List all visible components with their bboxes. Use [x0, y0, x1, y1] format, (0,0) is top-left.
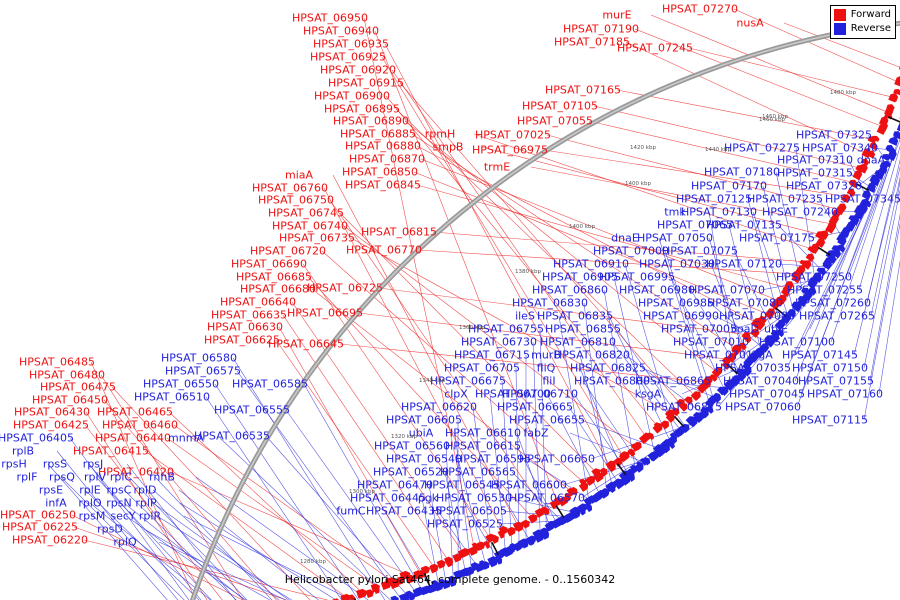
gene-label[interactable]: HPSAT_07175	[739, 233, 815, 244]
gene-label[interactable]: HPSAT_07075	[662, 246, 738, 257]
gene-label[interactable]: HPSAT_06485	[19, 357, 95, 368]
gene-label[interactable]: rplR	[139, 511, 161, 522]
gene-label[interactable]: HPSAT_07070	[689, 285, 765, 296]
axis-tick-label: 1480 kbp	[830, 90, 856, 96]
legend-label-reverse: Reverse	[851, 24, 891, 34]
gene-label[interactable]: HPSAT_07150	[792, 363, 868, 374]
gene-label[interactable]: nusA	[736, 18, 763, 29]
gene-label[interactable]: HPSAT_06440	[95, 433, 171, 444]
gene-label[interactable]: HPSAT_07040	[723, 376, 799, 387]
gene-label[interactable]: HPSAT_06825	[570, 363, 646, 374]
gene-label[interactable]: ubiE	[764, 324, 788, 335]
axis-tick-label: 1460 kbp	[759, 117, 785, 123]
gene-label[interactable]: HPSAT_06665	[497, 402, 573, 413]
gene-label[interactable]: HPSAT_07105	[522, 101, 598, 112]
gene-label[interactable]: dnaE	[611, 233, 639, 244]
gene-label[interactable]: HPSAT_06615	[445, 441, 521, 452]
gene-label[interactable]: HPSAT_06710	[502, 389, 578, 400]
gene-label[interactable]: rpsQ	[49, 472, 75, 483]
gene-label[interactable]: rplB	[12, 446, 34, 457]
gene-label[interactable]: HPSAT_07250	[776, 272, 852, 283]
gene-label[interactable]: HPSAT_06430	[14, 407, 90, 418]
gene-label[interactable]: HPSAT_06885	[340, 129, 416, 140]
gene-label[interactable]: HPSAT_06545	[424, 480, 500, 491]
gene-label[interactable]: HPSAT_07340	[802, 143, 878, 154]
gene-label[interactable]: ksgA	[635, 389, 662, 400]
gene-label[interactable]: HPSAT_07345	[825, 194, 900, 205]
gene-label[interactable]: HPSAT_06640	[220, 297, 296, 308]
gene-label[interactable]: HPSAT_07155	[798, 376, 874, 387]
gene-label[interactable]: HPSAT_06920	[320, 65, 396, 76]
gene-label[interactable]: rplO	[78, 498, 101, 509]
gene-label[interactable]: HPSAT_07035	[715, 363, 791, 374]
gene-label[interactable]: HPSAT_06570	[509, 493, 585, 504]
gene-label[interactable]: HPSAT_07160	[807, 389, 883, 400]
gene-label[interactable]: dnaA	[857, 155, 885, 166]
gene-label[interactable]: fliI	[542, 376, 555, 387]
gene-label[interactable]: HPSAT_06985	[638, 298, 714, 309]
gene-arrow[interactable]	[692, 391, 701, 400]
axis-tick-label: 1320 kbp	[391, 434, 417, 440]
gene-label[interactable]: HPSAT_07260	[795, 298, 871, 309]
gene-label[interactable]: rplC	[110, 472, 132, 483]
gene-label[interactable]: HPSAT_06760	[252, 183, 328, 194]
gene-label[interactable]: HPSAT_06620	[401, 402, 477, 413]
axis-tick-label: 1300 kbp	[349, 489, 375, 495]
gene-label[interactable]: HPSAT_06735	[279, 233, 355, 244]
gene-label[interactable]: rplP	[135, 498, 156, 509]
gene-label[interactable]: HPSAT_06600	[491, 480, 567, 491]
gene-label[interactable]: HPSAT_07180	[704, 167, 780, 178]
gene-label[interactable]: HPSAT_06740	[272, 221, 348, 232]
gene-label[interactable]: HPSAT_06580	[161, 353, 237, 364]
gene-label[interactable]: HPSAT_06475	[40, 382, 116, 393]
gene-label[interactable]: miaA	[285, 170, 313, 181]
gene-label[interactable]: HPSAT_07145	[782, 350, 858, 361]
gene-label[interactable]: HPSAT_07085	[719, 311, 795, 322]
gene-label[interactable]: fabZ	[523, 428, 548, 439]
gene-label[interactable]: HPSAT_07170	[691, 181, 767, 192]
gene-label[interactable]: HPSAT_07235	[747, 194, 823, 205]
gene-label[interactable]: HPSAT_06425	[13, 420, 89, 431]
gene-label[interactable]: HPSAT_06705	[444, 363, 520, 374]
gene-label[interactable]: HPSAT_07015	[684, 350, 760, 361]
gene-label[interactable]: HPSAT_06915	[328, 78, 404, 89]
gene-label[interactable]: HPSAT_07060	[725, 402, 801, 413]
gene-label[interactable]: rpsN	[106, 498, 131, 509]
gene-label[interactable]: HPSAT_07050	[637, 233, 713, 244]
axis-tick-label: 1360 kbp	[459, 325, 485, 331]
gene-label[interactable]: HPSAT_06975	[472, 145, 548, 156]
gene-label[interactable]: HPSAT_06770	[346, 245, 422, 256]
gene-label[interactable]: HPSAT_07100	[759, 337, 835, 348]
gene-label[interactable]: HPSAT_07135	[706, 220, 782, 231]
legend-row-reverse: Reverse	[834, 22, 891, 36]
gene-label[interactable]: smpB	[433, 142, 464, 153]
gene-label[interactable]: HPSAT_06715	[454, 350, 530, 361]
label-leader-line	[157, 516, 333, 600]
axis-tick-label: 1400 kbp	[569, 224, 595, 230]
gene-label[interactable]: HPSAT_07010	[673, 337, 749, 348]
gene-label[interactable]: HPSAT_06865	[635, 376, 711, 387]
gene-label[interactable]: HPSAT_06530	[436, 493, 512, 504]
gene-label[interactable]: clpX	[444, 389, 468, 400]
gene-label[interactable]: HPSAT_06555	[214, 405, 290, 416]
gene-label[interactable]: HPSAT_06630	[207, 322, 283, 333]
gene-label[interactable]: HPSAT_06480	[29, 370, 105, 381]
gene-label[interactable]: HPSAT_06450	[32, 395, 108, 406]
gene-label[interactable]: HPSAT_07190	[563, 24, 639, 35]
gene-label[interactable]: HPSAT_06980	[619, 285, 695, 296]
gene-label[interactable]: rpsH	[1, 459, 27, 470]
gene-label[interactable]: HPSAT_06875	[646, 402, 722, 413]
gene-label[interactable]: HPSAT_06845	[345, 180, 421, 191]
gene-label[interactable]: HPSAT_06925	[310, 52, 386, 63]
gene-label[interactable]: HPSAT_06415	[73, 446, 149, 457]
axis-tick-mark	[888, 117, 900, 122]
axis-tick-label: 1420 kbp	[630, 145, 656, 151]
gene-label[interactable]: HPSAT_07115	[792, 415, 868, 426]
gene-label[interactable]: HPSAT_06565	[440, 467, 516, 478]
label-leader-line	[184, 516, 376, 600]
gene-arrow[interactable]	[506, 527, 516, 536]
gene-label[interactable]: HPSAT_06855	[545, 324, 621, 335]
gene-label[interactable]: HPSAT_06850	[342, 167, 418, 178]
gene-label[interactable]: HPSAT_06250	[0, 510, 76, 521]
gene-label[interactable]: HPSAT_07325	[796, 130, 872, 141]
gene-label[interactable]: HPSAT_06510	[134, 392, 210, 403]
gene-label[interactable]: rnhB	[149, 472, 175, 483]
label-leader-line	[206, 397, 356, 600]
gene-arrow[interactable]	[390, 596, 398, 600]
gene-label[interactable]: HPSAT_06750	[258, 195, 334, 206]
gene-label[interactable]: HPSAT_06910	[553, 259, 629, 270]
gene-label[interactable]: HPSAT_07125	[676, 194, 752, 205]
gene-label[interactable]: HPSAT_06890	[333, 116, 409, 127]
gene-label[interactable]: HPSAT_06605	[386, 415, 462, 426]
gene-label[interactable]: HPSAT_07000	[593, 246, 669, 257]
gene-label[interactable]: HPSAT_07130	[681, 207, 757, 218]
gene-label[interactable]: HPSAT_06880	[345, 141, 421, 152]
gene-label[interactable]: HPSAT_06685	[236, 272, 312, 283]
gene-label[interactable]: HPSAT_06650	[519, 454, 595, 465]
gene-label[interactable]: HPSAT_06995	[599, 272, 675, 283]
gene-label[interactable]: HPSAT_07315	[777, 168, 853, 179]
gene-label[interactable]: HPSAT_07080	[707, 298, 783, 309]
strand-legend: Forward Reverse	[830, 5, 896, 39]
gene-label[interactable]: HPSAT_07275	[724, 143, 800, 154]
gene-label[interactable]: murE	[602, 10, 631, 21]
gene-label[interactable]: HPSAT_06820	[554, 350, 630, 361]
gene-label[interactable]: HPSAT_06535	[194, 431, 270, 442]
legend-row-forward: Forward	[834, 8, 891, 22]
gene-label[interactable]: HPSAT_06550	[143, 379, 219, 390]
axis-tick-mark	[492, 542, 498, 554]
gene-label[interactable]: HPSAT_06465	[97, 407, 173, 418]
gene-label[interactable]: HPSAT_06990	[643, 311, 719, 322]
gene-label[interactable]: rpsS	[43, 459, 67, 470]
gene-label[interactable]: HPSAT_06520	[373, 467, 449, 478]
gene-label[interactable]: fliQ	[537, 363, 556, 374]
gene-label[interactable]: HPSAT_06585	[232, 379, 308, 390]
gene-label[interactable]: HPSAT_06505	[431, 506, 507, 517]
axis-tick-label: 1340 kbp	[419, 378, 445, 384]
gene-label[interactable]: HPSAT_06560	[374, 441, 450, 452]
genome-map-viewer: HPSAT_06485HPSAT_06430HPSAT_06425HPSAT_0…	[0, 0, 900, 600]
gene-label[interactable]: HPSAT_07255	[787, 285, 863, 296]
gene-label[interactable]: secY	[110, 511, 135, 522]
axis-tick-label: 1280 kbp	[300, 559, 326, 565]
gene-label[interactable]: HPSAT_07320	[786, 181, 862, 192]
legend-swatch-forward	[834, 9, 846, 21]
gene-label[interactable]: HPSAT_07240	[762, 207, 838, 218]
gene-label[interactable]: HPSAT_06860	[532, 285, 608, 296]
gene-label[interactable]: HPSAT_06690	[231, 259, 307, 270]
gene-label[interactable]: HPSAT_06835	[537, 311, 613, 322]
gene-label[interactable]: HPSAT_06695	[287, 308, 363, 319]
gene-label[interactable]: HPSAT_06635	[211, 310, 287, 321]
gene-label[interactable]: HPSAT_06810	[540, 337, 616, 348]
gene-label[interactable]: HPSAT_06815	[361, 227, 437, 238]
gene-label[interactable]: HPSAT_06730	[461, 337, 537, 348]
label-leader-line	[689, 48, 890, 97]
legend-label-forward: Forward	[851, 10, 891, 20]
gene-label[interactable]: HPSAT_07270	[662, 4, 738, 15]
gene-label[interactable]: rplD	[133, 485, 156, 496]
gene-label[interactable]: HPSAT_06725	[307, 283, 383, 294]
gene-label[interactable]: HPSAT_06895	[324, 104, 400, 115]
gene-label[interactable]: rplF	[17, 472, 38, 483]
gene-label[interactable]: HPSAT_06225	[2, 522, 78, 533]
gene-label[interactable]: HPSAT_06830	[512, 298, 588, 309]
gene-arrow[interactable]	[652, 424, 662, 434]
gene-label[interactable]: HPSAT_07030	[639, 259, 715, 270]
gene-label[interactable]: HPSAT_06220	[12, 535, 88, 546]
gene-label[interactable]: coaD	[731, 324, 759, 335]
gene-label[interactable]: ileS	[515, 311, 535, 322]
gene-label[interactable]: HPSAT_06935	[313, 39, 389, 50]
gene-label[interactable]: HPSAT_07310	[777, 155, 853, 166]
gene-label[interactable]: HPSAT_06950	[292, 13, 368, 24]
gene-label[interactable]: rplV	[84, 472, 106, 483]
gene-label[interactable]: HPSAT_07045	[729, 389, 805, 400]
axis-tick-label: 1400 kbp	[625, 181, 651, 187]
gene-label[interactable]: HPSAT_06610	[445, 428, 521, 439]
gene-label[interactable]: rpsJ	[83, 459, 103, 470]
gene-label[interactable]: rpsM	[79, 511, 106, 522]
gene-label[interactable]: rpsC	[107, 485, 132, 496]
gene-label[interactable]: HPSAT_06900	[314, 91, 390, 102]
gene-label[interactable]: HPSAT_07005	[661, 324, 737, 335]
gene-label[interactable]: HPSAT_06680	[240, 284, 316, 295]
gene-label[interactable]: HPSAT_06405	[0, 433, 74, 444]
gene-label[interactable]: HPSAT_06575	[165, 366, 241, 377]
gene-label[interactable]: HPSAT_07120	[706, 259, 782, 270]
legend-swatch-reverse	[834, 23, 846, 35]
gene-label[interactable]: HPSAT_06655	[509, 415, 585, 426]
gene-label[interactable]: fumC	[336, 506, 365, 517]
gene-label[interactable]: HPSAT_06525	[427, 519, 503, 530]
gene-label[interactable]: rplE	[79, 485, 101, 496]
gene-label[interactable]: rpsD	[97, 524, 123, 535]
gene-label[interactable]: HPSAT_07025	[475, 130, 551, 141]
gene-label[interactable]: rpsE	[39, 485, 63, 496]
gene-label[interactable]: HPSAT_06645	[268, 339, 344, 350]
gene-label[interactable]: infA	[45, 498, 66, 509]
gene-label[interactable]: HPSAT_06870	[349, 154, 425, 165]
figure-caption: Helicobacter pylori Sat464, complete gen…	[0, 573, 900, 586]
gene-label[interactable]: rpmH	[425, 129, 456, 140]
axis-tick-mark	[617, 464, 625, 475]
gene-label[interactable]: HPSAT_06745	[268, 208, 344, 219]
gene-label[interactable]: trmE	[484, 162, 510, 173]
gene-label[interactable]: HPSAT_07245	[617, 43, 693, 54]
gene-label[interactable]: HPSAT_07265	[799, 311, 875, 322]
gene-label[interactable]: HPSAT_06940	[303, 26, 379, 37]
axis-tick-label: 1380 kbp	[515, 269, 541, 275]
gene-label[interactable]: HPSAT_07055	[517, 116, 593, 127]
gene-arrow[interactable]	[579, 482, 588, 491]
axis-tick-label: 1440 kbp	[705, 147, 731, 153]
gene-label[interactable]: rplQ	[113, 537, 136, 548]
gene-label[interactable]: HPSAT_06460	[102, 420, 178, 431]
gene-label[interactable]: HPSAT_07165	[545, 85, 621, 96]
gene-label[interactable]: HPSAT_06540	[386, 454, 462, 465]
gene-label[interactable]: flgA	[751, 350, 772, 361]
gene-label[interactable]: HPSAT_06720	[250, 246, 326, 257]
